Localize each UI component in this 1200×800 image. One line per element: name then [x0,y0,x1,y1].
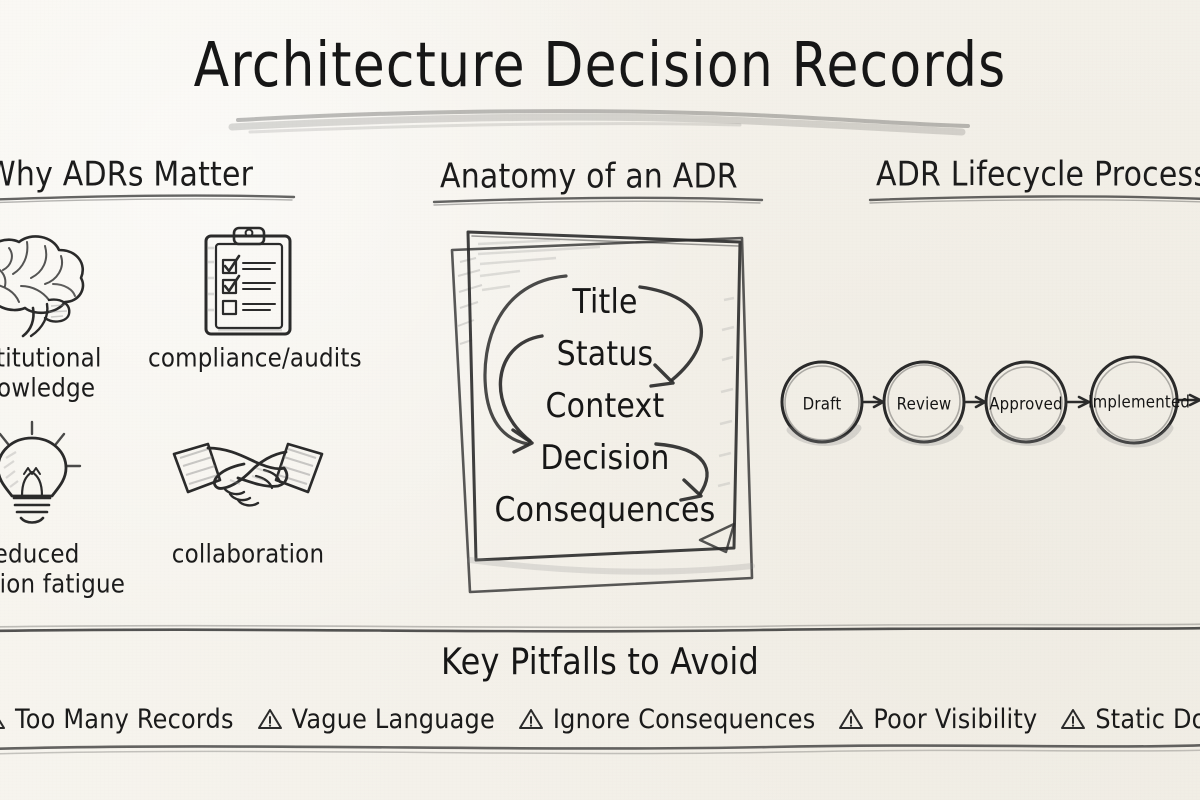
heading-underline-lifecycle [870,196,1200,203]
warning-triangle-icon [0,707,6,731]
why-item-label: institutional knowledge [0,344,132,405]
pitfall-label: Too Many Records [15,703,234,734]
why-item-collaboration: collaboration [148,418,348,567]
pitfalls-heading: Key Pitfalls to Avoid [0,640,1200,683]
title-underline [232,111,968,132]
heading-underline-why [0,196,294,203]
pitfall-label: Static Doc [1095,703,1200,734]
pitfall-item: Static Doc [1060,705,1200,733]
warning-triangle-icon [838,707,864,731]
brain-icon [0,222,132,340]
lifecycle-stage-implemented: Implemented [1088,392,1180,412]
lightbulb-icon [0,418,132,536]
anatomy-field-status: Status [440,334,770,374]
anatomy-field-context: Context [440,386,770,426]
lifecycle-stage-draft: Draft [782,394,862,414]
pitfall-item: Vague Language [257,705,495,733]
pitfall-label: Poor Visibility [873,703,1037,734]
pitfall-item: Too Many Records [0,705,234,733]
lifecycle-stage-review: Review [884,394,964,414]
why-item-label: reduced decision fatigue [0,540,132,601]
clipboard-icon [148,222,348,340]
lifecycle-stage-list: Draft Review Approved Implemented [770,352,1200,456]
anatomy-field-title: Title [440,282,770,322]
why-item-label: collaboration [148,540,348,570]
anatomy-field-list: Title Status Context Decision Consequenc… [440,224,770,596]
why-item-reduced-decision-fatigue: reduced decision fatigue [0,418,132,594]
why-item-label: compliance/audits [148,344,348,374]
pitfalls-bottom-rule [0,745,1200,754]
why-item-compliance-audits: compliance/audits [148,222,348,371]
warning-triangle-icon [1060,707,1086,731]
anatomy-field-decision: Decision [440,438,770,478]
warning-triangle-icon [257,707,283,731]
section-heading-why: Why ADRs Matter [0,156,253,194]
lifecycle-stage-approved: Approved [986,394,1066,414]
pitfalls-list: Too Many Records Vague Language Ignore C… [0,698,1200,740]
pitfall-item: Ignore Consequences [518,705,816,733]
heading-underline-anatomy [434,198,762,205]
pitfall-label: Vague Language [292,703,495,734]
whiteboard-canvas: Architecture Decision Records [0,0,1200,800]
section-divider [0,624,1200,631]
warning-triangle-icon [518,707,544,731]
handshake-icon [148,418,348,536]
anatomy-document: Title Status Context Decision Consequenc… [440,224,770,596]
section-heading-anatomy: Anatomy of an ADR [440,158,738,196]
anatomy-field-consequences: Consequences [440,490,770,530]
section-heading-lifecycle: ADR Lifecycle Process [876,156,1200,194]
why-item-institutional-knowledge: institutional knowledge [0,222,132,398]
pitfall-item: Poor Visibility [838,705,1037,733]
pitfall-label: Ignore Consequences [553,703,816,734]
